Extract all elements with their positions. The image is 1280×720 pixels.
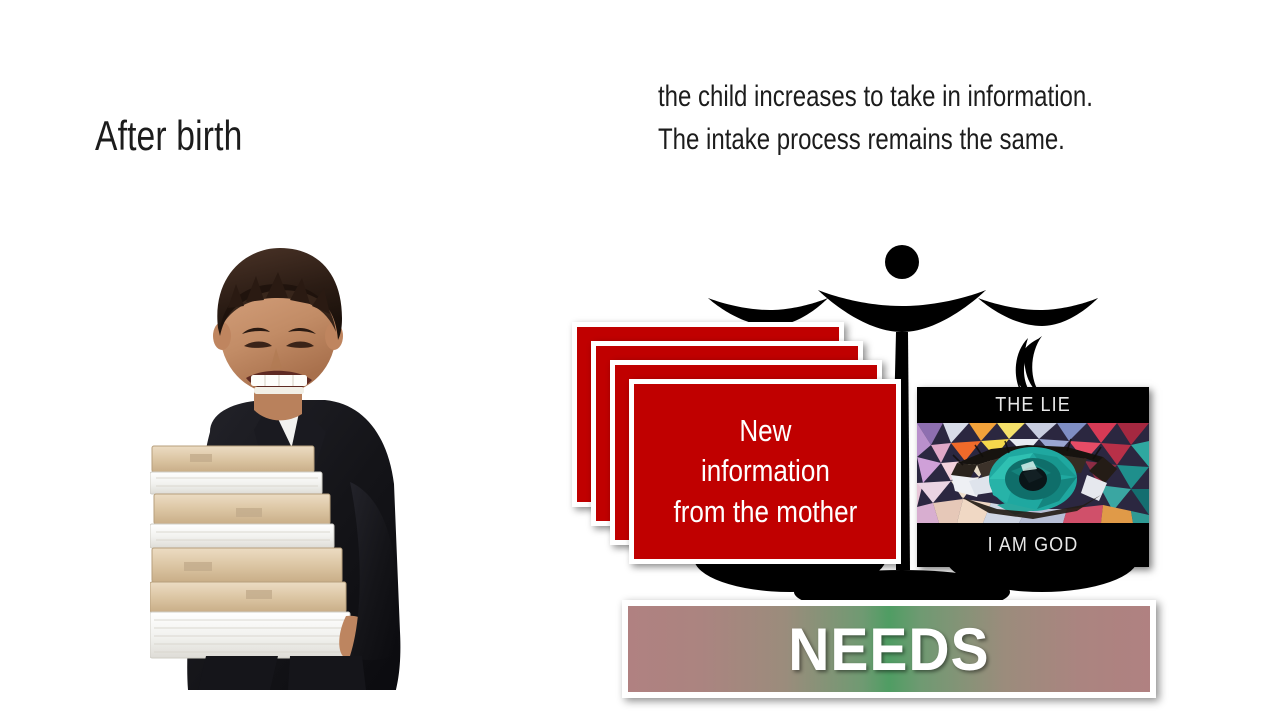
needs-bar: NEEDS: [622, 600, 1156, 698]
red-card-line-3: from the mother: [673, 492, 857, 532]
boy-carrying-books-photo: [150, 232, 426, 690]
red-card-front: New information from the mother: [629, 379, 901, 564]
new-information-card-stack: New information from the mother: [572, 322, 902, 572]
red-card-line-2: information: [673, 451, 857, 491]
body-paragraph: the child increases to take in informati…: [658, 76, 1138, 161]
needs-label: NEEDS: [788, 615, 989, 684]
red-card-text: New information from the mother: [673, 411, 857, 532]
red-card-line-1: New: [673, 411, 857, 451]
page-title: After birth: [95, 112, 242, 160]
i-am-god-label: I AM GOD: [929, 523, 1138, 567]
the-lie-panel: THE LIE: [917, 387, 1149, 567]
slide-canvas: After birth the child increases to take …: [0, 0, 1280, 720]
body-line-1: the child increases to take in informati…: [658, 76, 1138, 119]
the-lie-title: THE LIE: [929, 387, 1138, 423]
low-poly-eye-image: [917, 423, 1149, 523]
body-line-2: The intake process remains the same.: [658, 119, 1138, 162]
